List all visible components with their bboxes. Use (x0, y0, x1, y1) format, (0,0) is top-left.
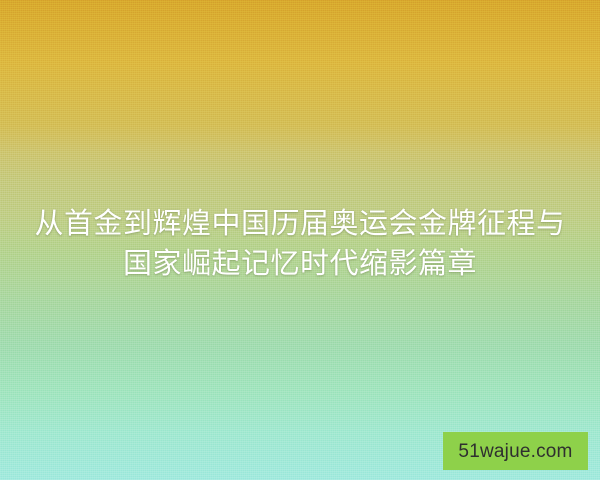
title-block: 从首金到辉煌中国历届奥运会金牌征程与国家崛起记忆时代缩影篇章 (0, 204, 600, 284)
page-title: 从首金到辉煌中国历届奥运会金牌征程与国家崛起记忆时代缩影篇章 (24, 204, 576, 284)
watermark-badge: 51wajue.com (443, 432, 588, 470)
cover-image: 从首金到辉煌中国历届奥运会金牌征程与国家崛起记忆时代缩影篇章 51wajue.c… (0, 0, 600, 480)
watermark-label: 51wajue.com (458, 442, 572, 461)
